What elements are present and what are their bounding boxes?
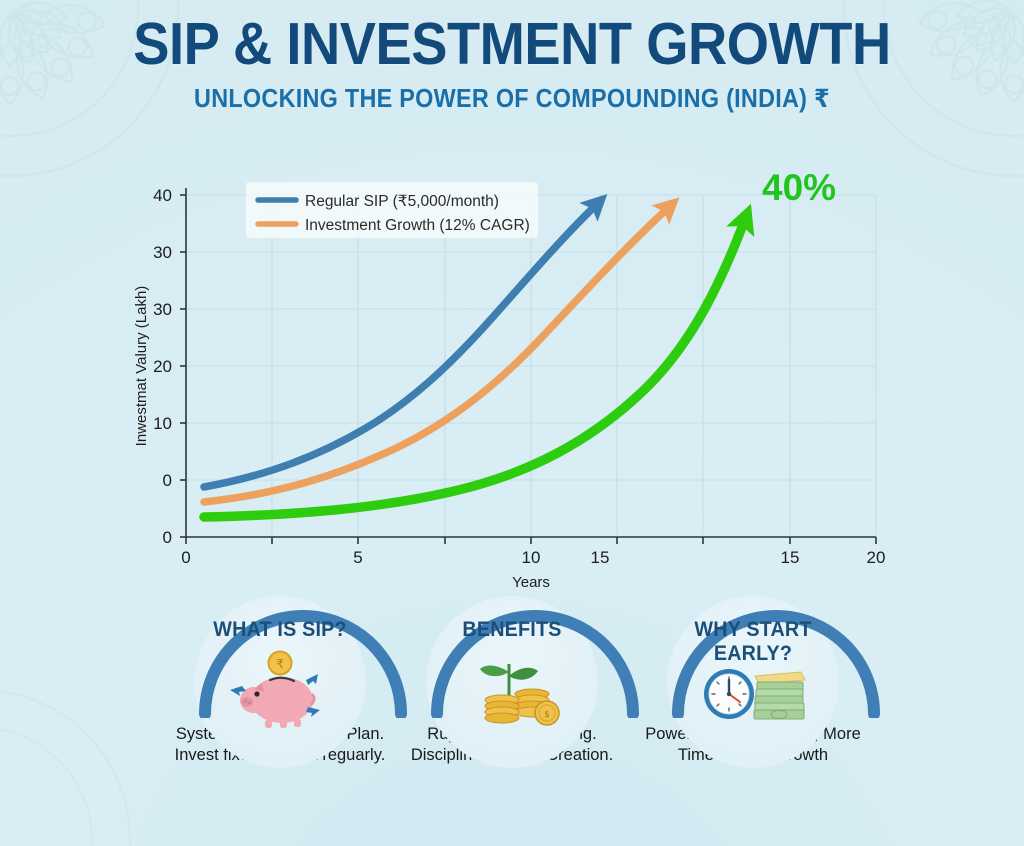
plant-growing-coins-icon: $: [452, 650, 572, 730]
card-title: BENEFITS: [418, 618, 606, 642]
chart-ytick-labels: 40 30 30 20 10 0 0: [153, 186, 172, 547]
legend-label-regular-sip: Regular SIP (₹5,000/month): [305, 193, 499, 210]
xtick-label: 5: [353, 548, 362, 567]
ytick-label: 30: [153, 300, 172, 319]
page-subtitle: UNLOCKING THE POWER OF COMPOUNDING (INDI…: [51, 83, 973, 114]
xtick-label: 10: [522, 548, 541, 567]
ytick-label: 0: [163, 528, 172, 547]
clock-money-stack-icon: [693, 650, 813, 730]
xtick-label: 15: [781, 548, 800, 567]
ytick-label: 10: [153, 414, 172, 433]
info-cards: WHAT IS SIP? ₹: [0, 588, 1024, 846]
annotation-40-percent: 40%: [762, 167, 836, 208]
chart-xtick-labels: 0 5 10 15 15 20: [181, 548, 885, 567]
rupee-icon: ₹: [814, 84, 830, 113]
legend-label-investment-growth: Investment Growth (12% CAGR): [305, 217, 530, 234]
growth-chart: 40 30 30 20 10 0 0 0 5 10 15 15 20 Years…: [0, 150, 1024, 590]
info-card-what-is-sip[interactable]: WHAT IS SIP? ₹: [157, 588, 403, 767]
xtick-label: 15: [591, 548, 610, 567]
chart-container: 40 30 30 20 10 0 0 0 5 10 15 15 20 Years…: [0, 150, 1024, 590]
info-card-why-start-early[interactable]: WHY START EARLY?: [630, 588, 876, 767]
card-title: WHAT IS SIP?: [186, 618, 374, 642]
ytick-label: 20: [153, 357, 172, 376]
ytick-label: 30: [153, 243, 172, 262]
svg-text:$: $: [544, 710, 550, 720]
piggy-bank-rupee-coin-icon: ₹: [220, 650, 340, 730]
chart-legend[interactable]: Regular SIP (₹5,000/month) Investment Gr…: [246, 182, 538, 238]
chart-yaxis-title: Inwestmat Valury (Lakh): [133, 286, 150, 447]
header: SIP & INVESTMENT GROWTH UNLOCKING THE PO…: [0, 12, 1024, 114]
info-card-benefits[interactable]: BENEFITS: [389, 588, 635, 767]
infographic-root: SIP & INVESTMENT GROWTH UNLOCKING THE PO…: [0, 0, 1024, 846]
page-subtitle-text: UNLOCKING THE POWER OF COMPOUNDING (INDI…: [194, 83, 807, 113]
xtick-label: 0: [181, 548, 190, 567]
ytick-label: 40: [153, 186, 172, 205]
svg-text:₹: ₹: [276, 657, 284, 671]
series-line-highlight-growth: [204, 222, 744, 517]
ytick-label: 0: [163, 471, 172, 490]
page-title: SIP & INVESTMENT GROWTH: [41, 12, 983, 77]
xtick-label: 20: [867, 548, 886, 567]
